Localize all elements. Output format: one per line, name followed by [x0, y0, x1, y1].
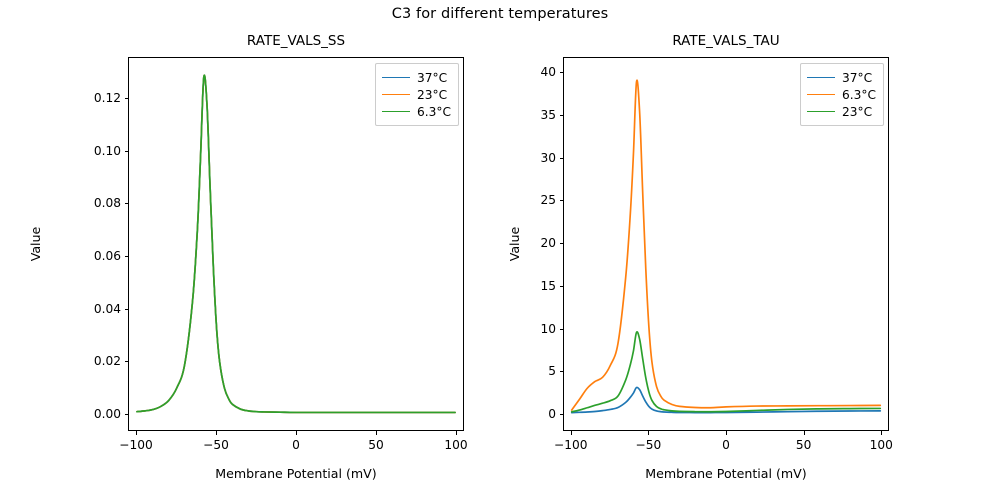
y-tick [125, 98, 129, 99]
y-tick [125, 361, 129, 362]
matplotlib-figure: C3 for different temperatures RATE_VALS_… [0, 0, 1000, 500]
x-axis-label-right: Membrane Potential (mV) [563, 466, 889, 481]
legend-item[interactable]: 23°C [382, 86, 451, 103]
x-tick [571, 431, 572, 435]
y-tick-label: 35 [501, 108, 556, 122]
x-tick-label: 100 [444, 438, 467, 452]
legend-left[interactable]: 37°C23°C6.3°C [375, 63, 459, 126]
x-tick [648, 431, 649, 435]
y-tick [560, 329, 564, 330]
legend-item[interactable]: 6.3°C [382, 103, 451, 120]
legend-item[interactable]: 23°C [807, 103, 876, 120]
legend-right[interactable]: 37°C6.3°C23°C [800, 63, 884, 126]
y-tick [560, 158, 564, 159]
y-tick [560, 243, 564, 244]
y-axis-label-right: Value [507, 227, 522, 262]
legend-item[interactable]: 37°C [382, 69, 451, 86]
figure-suptitle: C3 for different temperatures [0, 6, 1000, 22]
legend-swatch-line [807, 77, 835, 78]
x-tick-label: −100 [554, 438, 587, 452]
y-tick-label: 0 [501, 407, 556, 421]
x-tick-label: 100 [870, 438, 893, 452]
x-tick [456, 431, 457, 435]
x-tick [216, 431, 217, 435]
y-tick [560, 115, 564, 116]
legend-label: 37°C [417, 71, 447, 85]
axes-title-left: RATE_VALS_SS [129, 33, 463, 49]
x-tick [881, 431, 882, 435]
x-tick [136, 431, 137, 435]
x-tick-label: −100 [119, 438, 152, 452]
x-tick-label: −50 [203, 438, 229, 452]
y-tick-label: 15 [501, 279, 556, 293]
legend-item[interactable]: 6.3°C [807, 86, 876, 103]
y-tick [560, 200, 564, 201]
y-tick [560, 286, 564, 287]
x-tick [726, 431, 727, 435]
y-tick [125, 151, 129, 152]
legend-swatch-line [807, 111, 835, 112]
y-tick-label: 0.08 [66, 196, 121, 210]
series-line-6.3C [572, 80, 881, 410]
legend-swatch-line [382, 111, 410, 112]
y-tick-label: 0.12 [66, 91, 121, 105]
legend-label: 23°C [842, 105, 872, 119]
y-tick-label: 0.10 [66, 144, 121, 158]
y-tick-label: 10 [501, 322, 556, 336]
y-tick [560, 72, 564, 73]
y-axis-label-left: Value [28, 227, 43, 262]
axes-title-right: RATE_VALS_TAU [564, 33, 888, 49]
legend-swatch-line [807, 94, 835, 95]
x-axis-label-left: Membrane Potential (mV) [128, 466, 464, 481]
x-tick [296, 431, 297, 435]
y-tick-label: 0.00 [66, 407, 121, 421]
y-tick-label: 25 [501, 193, 556, 207]
y-tick-label: 30 [501, 151, 556, 165]
y-tick [560, 414, 564, 415]
x-tick-label: −50 [636, 438, 662, 452]
legend-label: 37°C [842, 71, 872, 85]
x-tick-label: 50 [368, 438, 384, 452]
y-tick [125, 256, 129, 257]
x-tick-label: 0 [722, 438, 730, 452]
legend-label: 6.3°C [417, 105, 451, 119]
y-tick [125, 414, 129, 415]
y-tick-label: 5 [501, 364, 556, 378]
legend-label: 6.3°C [842, 88, 876, 102]
y-tick [125, 203, 129, 204]
y-tick-label: 40 [501, 65, 556, 79]
legend-item[interactable]: 37°C [807, 69, 876, 86]
legend-swatch-line [382, 94, 410, 95]
y-tick-label: 0.06 [66, 249, 121, 263]
x-tick-label: 50 [796, 438, 812, 452]
y-tick [125, 309, 129, 310]
x-tick [376, 431, 377, 435]
y-tick-label: 0.02 [66, 354, 121, 368]
legend-swatch-line [382, 77, 410, 78]
y-tick [560, 371, 564, 372]
x-tick-label: 0 [292, 438, 300, 452]
y-tick-label: 0.04 [66, 302, 121, 316]
x-tick [804, 431, 805, 435]
legend-label: 23°C [417, 88, 447, 102]
